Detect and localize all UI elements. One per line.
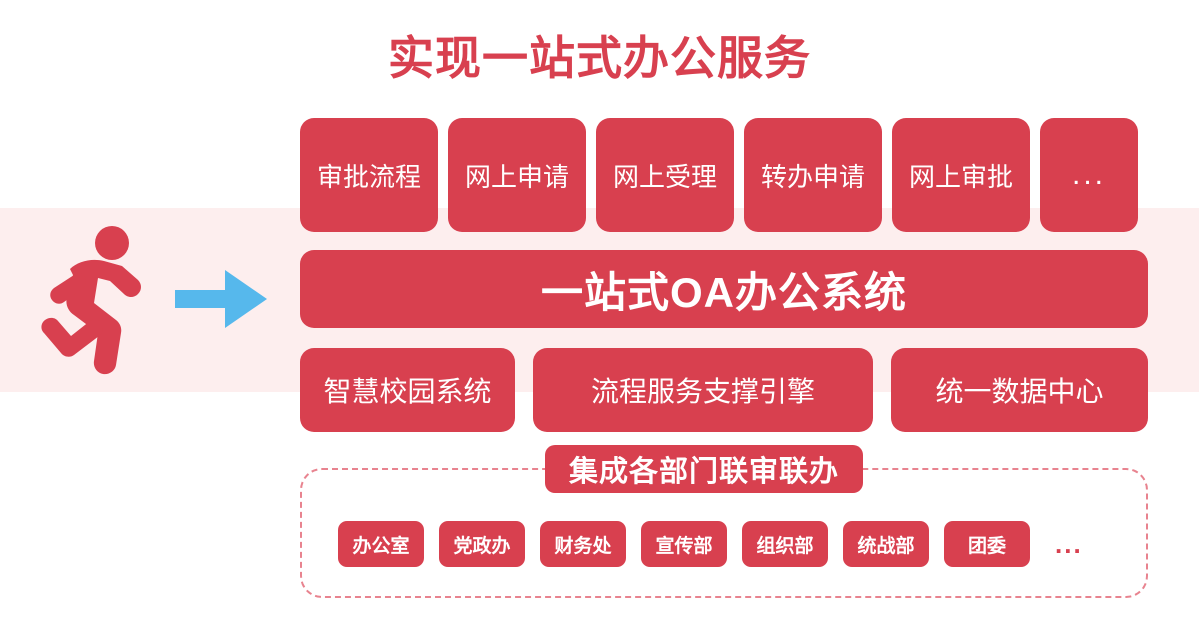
page-title: 实现一站式办公服务 — [0, 22, 1199, 88]
department-chip-strip: 办公室 党政办 财务处 宣传部 组织部 统战部 团委 ... — [338, 521, 1128, 567]
department-chip[interactable]: 办公室 — [338, 521, 424, 567]
department-chip[interactable]: 统战部 — [843, 521, 929, 567]
service-chip[interactable]: 网上受理 — [596, 118, 734, 232]
service-chip-label: 转办申请 — [761, 157, 865, 194]
service-row: 审批流程 网上申请 网上受理 转办申请 网上审批 ... — [300, 118, 1148, 232]
service-chip-label: 网上审批 — [909, 157, 1013, 194]
department-chip[interactable]: 财务处 — [540, 521, 626, 567]
platform-chip-label: 统一数据中心 — [935, 370, 1103, 410]
main-system-banner-label: 一站式OA办公系统 — [541, 259, 907, 320]
department-chip-label: 团委 — [968, 531, 1006, 558]
platform-chip-label: 流程服务支撑引擎 — [591, 370, 815, 410]
service-chip-label: ... — [1072, 158, 1106, 192]
department-chip-label: 宣传部 — [655, 531, 712, 558]
departments-section-badge-label: 集成各部门联审联办 — [569, 448, 839, 490]
service-chip-more[interactable]: ... — [1040, 118, 1138, 232]
department-chip-label: 统战部 — [857, 531, 914, 558]
departments-section-badge: 集成各部门联审联办 — [545, 445, 863, 493]
service-chip[interactable]: 网上申请 — [448, 118, 586, 232]
right-arrow-icon — [175, 268, 267, 330]
platform-chip[interactable]: 智慧校园系统 — [300, 348, 515, 432]
platform-chip-label: 智慧校园系统 — [323, 370, 491, 410]
diagram-canvas: 实现一站式办公服务 审批流程 网上申请 网上受理 转办申请 网上审批 ... 一… — [0, 0, 1199, 622]
service-chip[interactable]: 网上审批 — [892, 118, 1030, 232]
running-person-icon — [30, 225, 165, 375]
department-chip[interactable]: 团委 — [944, 521, 1030, 567]
department-chip[interactable]: 党政办 — [439, 521, 525, 567]
main-system-banner[interactable]: 一站式OA办公系统 — [300, 250, 1148, 328]
service-chip[interactable]: 转办申请 — [744, 118, 882, 232]
service-chip-label: 审批流程 — [317, 157, 421, 194]
department-chip-label: 办公室 — [352, 531, 409, 558]
service-chip[interactable]: 审批流程 — [300, 118, 438, 232]
department-more-ellipsis[interactable]: ... — [1055, 521, 1083, 567]
department-chip-label: 党政办 — [453, 531, 510, 558]
platform-chip[interactable]: 统一数据中心 — [891, 348, 1148, 432]
department-chip[interactable]: 宣传部 — [641, 521, 727, 567]
department-chip-label: 财务处 — [554, 531, 611, 558]
department-chip-label: 组织部 — [756, 531, 813, 558]
service-chip-label: 网上申请 — [465, 157, 569, 194]
platform-chip[interactable]: 流程服务支撑引擎 — [533, 348, 873, 432]
platform-row: 智慧校园系统 流程服务支撑引擎 统一数据中心 — [300, 348, 1148, 432]
service-chip-label: 网上受理 — [613, 157, 717, 194]
department-chip[interactable]: 组织部 — [742, 521, 828, 567]
